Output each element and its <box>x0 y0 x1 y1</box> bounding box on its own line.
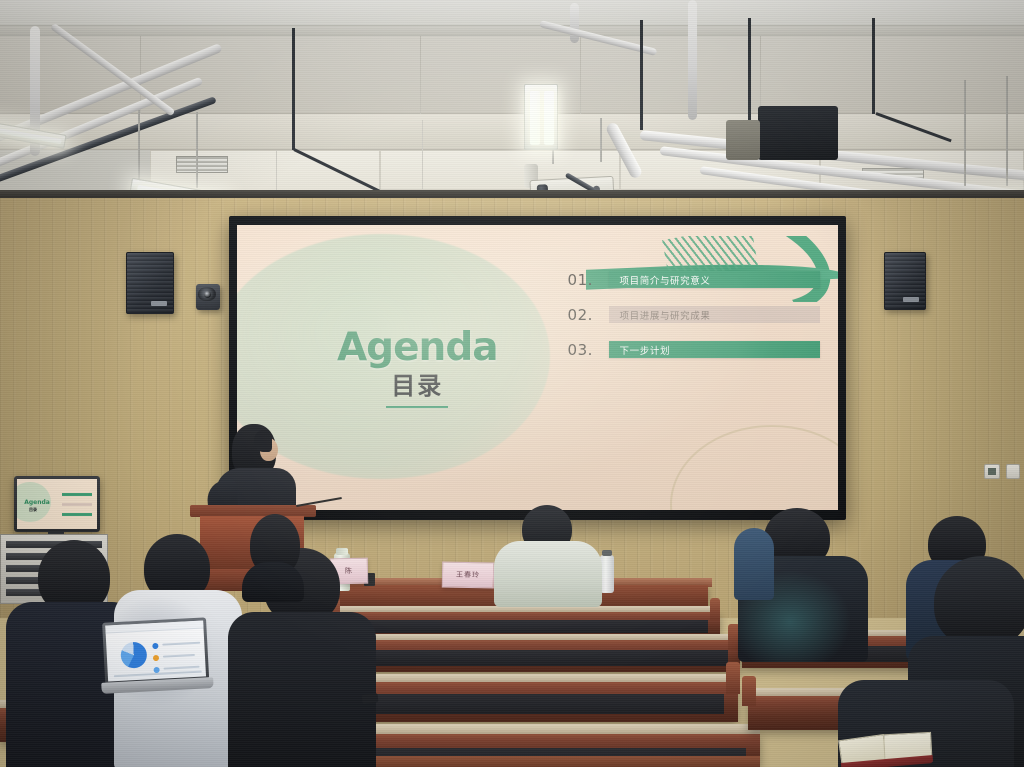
audience-person-6b <box>734 528 774 598</box>
ceiling <box>0 0 1024 196</box>
confidence-monitor: Agenda 目录 <box>14 476 100 532</box>
water-bottle <box>600 555 614 593</box>
agenda-item-2: 02. 项目进展与研究成果 <box>568 306 820 324</box>
hvac-vent-icon <box>176 156 228 173</box>
ceiling-light-center <box>524 84 558 150</box>
agenda-item-3: 03. 下一步计划 <box>568 341 820 359</box>
monitor-title-en: Agenda <box>24 499 50 506</box>
agenda-item-1-bar: 项目简介与研究意义 <box>609 271 820 288</box>
slide-title-cn: 目录 <box>279 374 555 398</box>
ptz-camera <box>196 284 220 310</box>
phone-on-desk <box>362 693 379 704</box>
wall-thermostat-panel[interactable] <box>984 464 1000 479</box>
slide-title-en: Agenda <box>279 328 555 367</box>
agenda-list: 01. 项目简介与研究意义 02. 项目进展与研究成果 03. 下一步计划 <box>568 271 820 376</box>
ceiling-equipment-box <box>758 106 838 160</box>
name-card-2: 王春玲 <box>442 562 494 589</box>
agenda-item-1-number: 01. <box>568 271 598 289</box>
agenda-item-2-label: 项目进展与研究成果 <box>620 308 711 322</box>
audience-person-4 <box>244 514 306 592</box>
wall-switch-panel[interactable] <box>1006 464 1020 479</box>
agenda-item-3-bar: 下一步计划 <box>609 341 820 358</box>
agenda-slide: Agenda 目录 01. 项目简介与研究意义 02. 项目进展与研究成果 <box>237 225 838 510</box>
classroom-photo: Agenda 目录 01. 项目简介与研究意义 02. 项目进展与研究成果 <box>0 0 1024 767</box>
projection-screen: Agenda 目录 01. 项目简介与研究意义 02. 项目进展与研究成果 <box>229 216 846 520</box>
agenda-item-3-label: 下一步计划 <box>620 343 671 357</box>
monitor-title-cn: 目录 <box>29 507 37 513</box>
wall-speaker-right <box>884 252 926 310</box>
slide-title-block: Agenda 目录 <box>279 328 555 408</box>
wall-speaker-left <box>126 252 174 314</box>
agenda-item-2-bar: 项目进展与研究成果 <box>609 306 820 323</box>
agenda-item-2-number: 02. <box>568 306 598 324</box>
agenda-item-1: 01. 项目简介与研究意义 <box>568 271 820 289</box>
audience-person-5 <box>496 505 600 601</box>
name-card-2-text: 王春玲 <box>456 570 480 580</box>
student-laptop <box>102 617 210 698</box>
slide-decor-ring <box>670 425 838 511</box>
slide-title-underline <box>386 406 448 408</box>
agenda-item-3-number: 03. <box>568 341 598 359</box>
agenda-item-1-label: 项目简介与研究意义 <box>620 273 711 287</box>
